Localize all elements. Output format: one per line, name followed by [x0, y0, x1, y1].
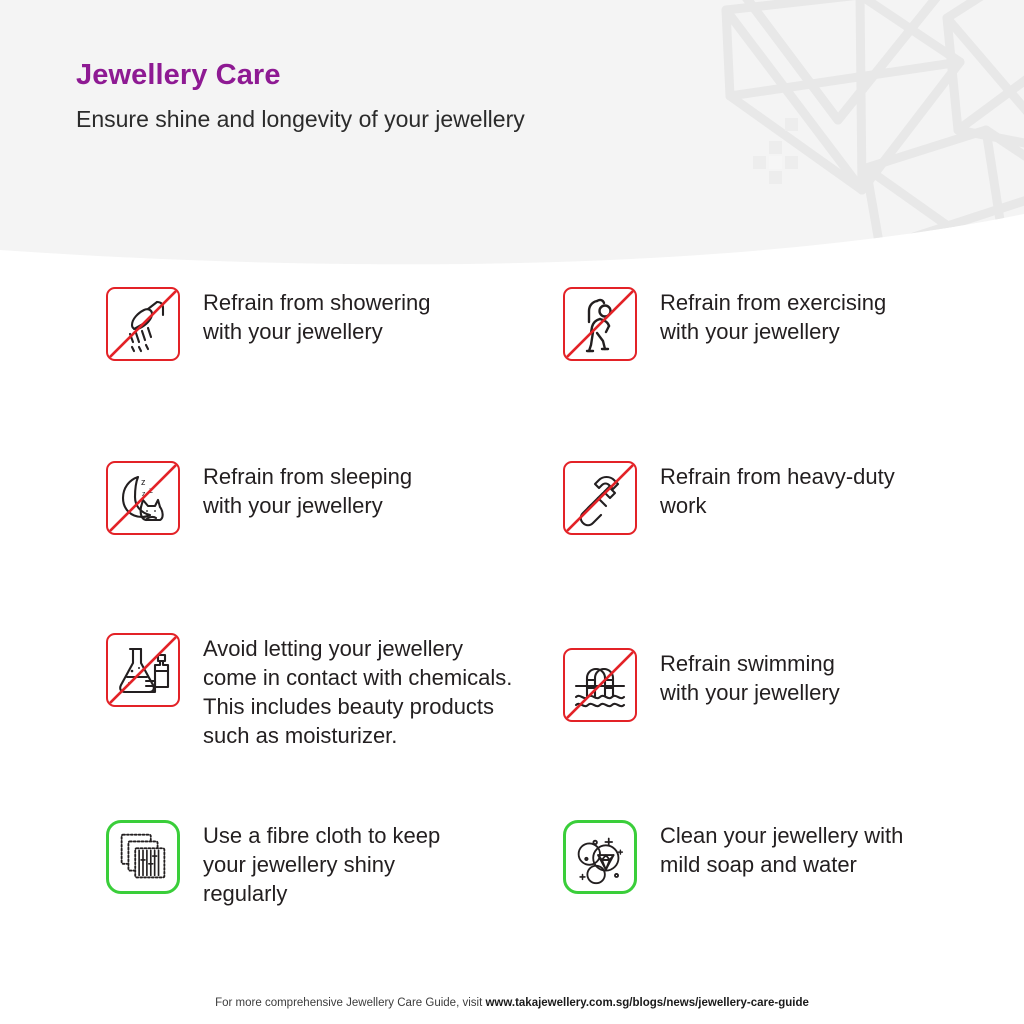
chemicals-flask-icon [106, 633, 180, 707]
header-text-block: Jewellery Care Ensure shine and longevit… [76, 55, 525, 135]
care-item-label: Refrain from heavy-duty work [660, 461, 895, 520]
svg-text:z: z [149, 486, 153, 495]
hammer-icon [563, 461, 637, 535]
care-row: Avoid letting your jewellery come in con… [0, 610, 1024, 802]
care-item-chemicals: Avoid letting your jewellery come in con… [106, 633, 512, 750]
care-item-label: Clean your jewellery with mild soap and … [660, 820, 903, 879]
care-item-showering: Refrain from showering with your jewelle… [106, 287, 430, 361]
care-row: Refrain from showering with your jewelle… [0, 268, 1024, 438]
care-item-label: Refrain from sleeping with your jeweller… [203, 461, 412, 520]
page-title: Jewellery Care [76, 55, 525, 95]
svg-text:z: z [142, 491, 146, 498]
care-item-label: Refrain swimming with your jewellery [660, 648, 840, 707]
page-subtitle: Ensure shine and longevity of your jewel… [76, 103, 525, 135]
footer-prefix: For more comprehensive Jewellery Care Gu… [215, 997, 485, 1009]
footer: For more comprehensive Jewellery Care Gu… [0, 995, 1024, 1011]
care-row: Use a fibre cloth to keep your jewellery… [0, 802, 1024, 942]
swimming-pool-ladder-icon [563, 648, 637, 722]
soap-bubbles-diamond-icon [563, 820, 637, 894]
care-item-heavy-duty: Refrain from heavy-duty work [563, 461, 895, 535]
care-item-exercising: Refrain from exercising with your jewell… [563, 287, 886, 361]
care-item-sleeping: z z z Refrain from sleeping with your je… [106, 461, 412, 535]
care-item-swimming: Refrain swimming with your jewellery [563, 648, 840, 722]
care-item-label: Refrain from exercising with your jewell… [660, 287, 886, 346]
care-item-label: Use a fibre cloth to keep your jewellery… [203, 820, 440, 908]
fibre-cloth-icon [106, 820, 180, 894]
exercising-person-icon [563, 287, 637, 361]
care-item-label: Refrain from showering with your jewelle… [203, 287, 430, 346]
svg-text:z: z [141, 477, 146, 487]
care-item-clean-soap: Clean your jewellery with mild soap and … [563, 820, 903, 894]
shower-icon [106, 287, 180, 361]
header-background-shape [0, 0, 1024, 270]
header-band: Jewellery Care Ensure shine and longevit… [0, 0, 1024, 270]
sleeping-moon-cat-icon: z z z [106, 461, 180, 535]
care-item-label: Avoid letting your jewellery come in con… [203, 633, 512, 750]
footer-url-link[interactable]: www.takajewellery.com.sg/blogs/news/jewe… [485, 997, 808, 1009]
care-item-grid: Refrain from showering with your jewelle… [0, 268, 1024, 942]
care-row: z z z Refrain from sleeping with your je… [0, 438, 1024, 610]
care-item-fibre-cloth: Use a fibre cloth to keep your jewellery… [106, 820, 440, 908]
